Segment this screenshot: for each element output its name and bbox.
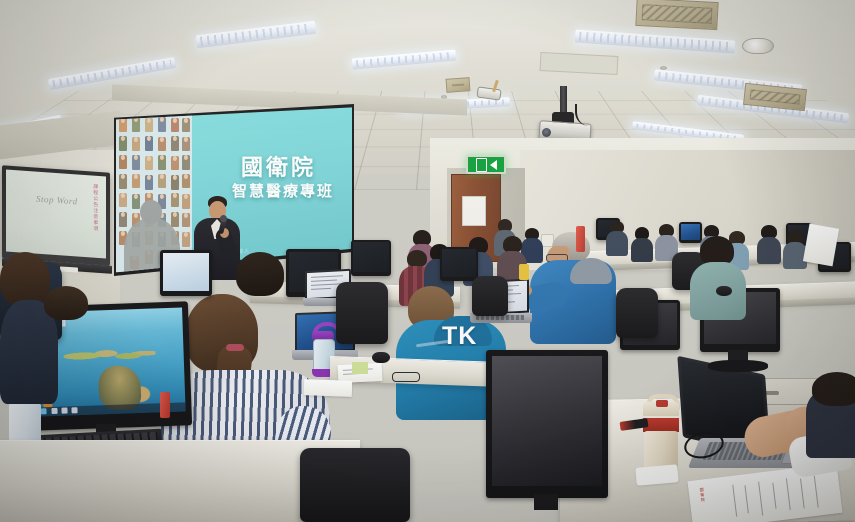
red-bottle[interactable] [576,226,585,252]
student-head-mid [236,252,284,296]
mouse[interactable] [716,286,732,296]
student-foreground-left [0,252,58,402]
handout-heading: 國衛院 [698,487,708,519]
office-chair[interactable] [300,448,410,522]
door-notice [462,196,486,226]
whiteboard-side-note: 課程公告注意事項 [92,184,98,246]
ceiling-access-panel [540,52,619,75]
student [783,230,807,268]
taskbar-item[interactable] [71,407,77,413]
taskbar-item[interactable] [61,408,67,414]
monitor-stand [534,494,558,510]
monitor-base [708,360,768,372]
tumbler-tab [656,400,668,407]
office-chair[interactable] [336,282,388,344]
hair-tie [226,344,244,351]
hair [0,252,50,306]
exit-door-icon [476,158,487,172]
sticky-note[interactable] [352,362,368,374]
student-teal-top [690,236,746,318]
exit-sign [466,155,506,174]
slide-artwork [116,114,192,272]
tissue [635,464,678,486]
office-chair[interactable] [616,288,658,338]
slide-title: 國衛院 [241,150,316,182]
microphone-head [220,215,227,222]
office-chair[interactable] [472,276,508,316]
slide-subtitle: 智慧醫療專班 [232,180,334,201]
student-blue-fleece [530,232,616,344]
exit-arrow-icon [490,160,497,170]
monitor-rear-panel [492,356,602,486]
whiteboard: Stop Word 課程公告注意事項 [2,165,110,266]
smoke-detector [660,66,667,70]
whiteboard-handwriting: Stop Word [36,194,78,207]
monitor-back[interactable] [486,350,608,498]
whiteboard-surface: Stop Word 課程公告注意事項 [6,170,106,259]
eyeglasses[interactable] [392,372,420,382]
student [631,227,653,261]
hair [812,372,855,406]
student-head-bottom-left [44,286,88,320]
tumbler-band [643,418,679,432]
ceiling-speaker [742,38,774,54]
handout[interactable] [304,379,353,397]
monitor[interactable] [440,247,478,281]
student [757,225,781,263]
hoodie-text: TK [442,322,477,351]
yellow-cup[interactable] [519,264,529,280]
monitor[interactable] [160,250,212,296]
mouse[interactable] [372,352,390,363]
monitor[interactable] [351,240,391,276]
hvac-vent [635,0,718,30]
red-bottle[interactable] [160,392,170,418]
hvac-vent [446,77,471,93]
taskbar-item[interactable] [51,408,57,414]
projector-lens [542,128,551,137]
wallpaper-island [63,340,156,369]
classroom-photo: Stop Word 課程公告注意事項 [0,0,855,522]
